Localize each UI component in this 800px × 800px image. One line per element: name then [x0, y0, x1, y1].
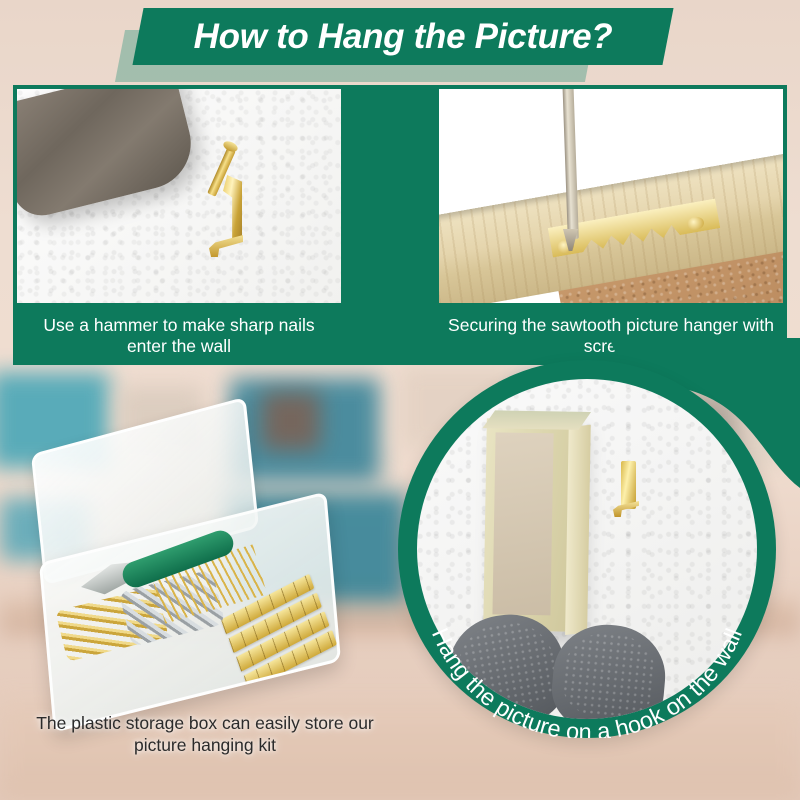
gold-picture-hook: [209, 147, 251, 267]
wooden-picture-frame: [483, 418, 577, 632]
step-hang-circle-panel: Hang the picture on a hook on the wall: [370, 340, 800, 800]
page-title-banner: How to Hang the Picture?: [0, 0, 800, 82]
step-sawtooth-photo: [435, 85, 787, 307]
step-storage-box-photo: [28, 420, 358, 700]
frame-side-edge: [565, 425, 591, 635]
frame-top-edge: [483, 410, 591, 429]
hook-lip: [209, 235, 243, 257]
wall-mounted-hook: [615, 461, 641, 521]
step-divider: [345, 85, 435, 365]
hook-body: [223, 175, 242, 241]
hook-body: [621, 461, 636, 509]
step-hammer-caption: Use a hammer to make sharp nails enter t…: [13, 307, 345, 365]
step-hammer-photo: [13, 85, 345, 307]
page-title: How to Hang the Picture?: [138, 8, 668, 65]
step-hang-photo: [417, 379, 757, 719]
frame-backing: [492, 432, 553, 615]
step-storage-box-caption: The plastic storage box can easily store…: [20, 712, 390, 757]
